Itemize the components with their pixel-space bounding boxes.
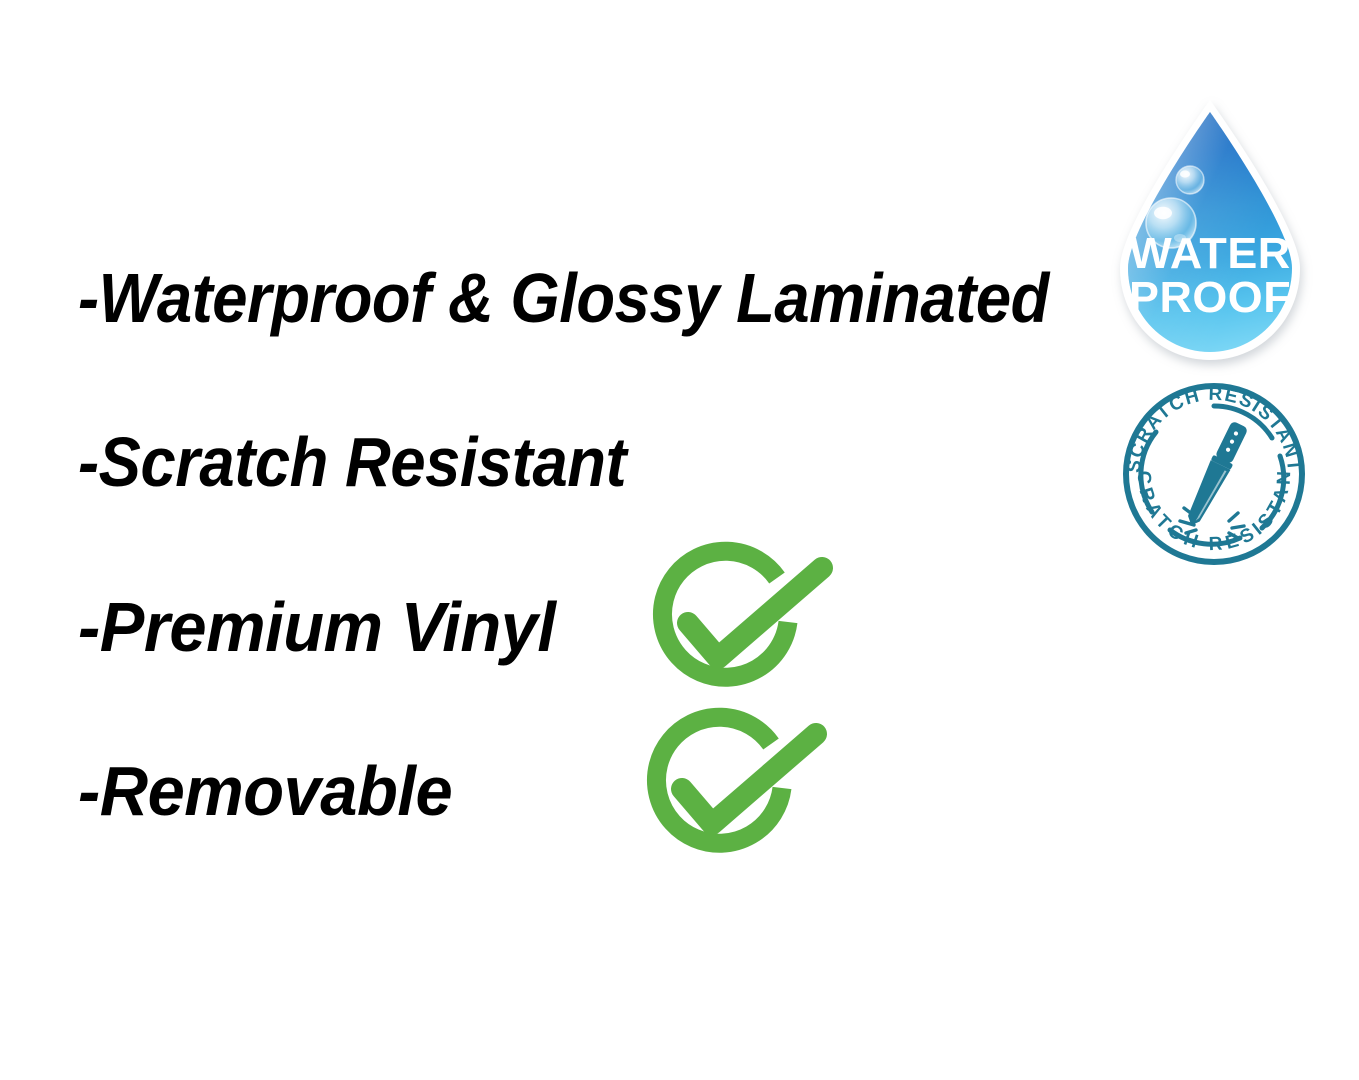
scratch-resistant-badge: SCRATCH RESISTANT SCRATCH RESISTANT xyxy=(1112,378,1316,570)
check-mark-stroke xyxy=(688,568,822,658)
check-mark-stroke xyxy=(682,734,816,824)
feature-text: -Premium Vinyl xyxy=(78,588,556,666)
waterproof-drop-icon: WATER PROOF xyxy=(1104,96,1316,376)
feature-item-waterproof-glossy-laminated: -Waterproof & Glossy Laminated xyxy=(78,263,1049,333)
feature-item-removable: -Removable xyxy=(78,756,452,826)
feature-list: -Waterproof & Glossy Laminated -Scratch … xyxy=(0,0,1120,1080)
waterproof-badge: WATER PROOF xyxy=(1104,96,1316,376)
feature-text: -Waterproof & Glossy Laminated xyxy=(78,259,1049,337)
green-check-circle-icon xyxy=(630,716,836,886)
feature-text: -Removable xyxy=(78,752,452,830)
product-feature-graphic: -Waterproof & Glossy Laminated -Scratch … xyxy=(0,0,1359,1080)
waterproof-line1: WATER xyxy=(1129,229,1290,278)
feature-text: -Scratch Resistant xyxy=(78,423,626,501)
feature-item-premium-vinyl: -Premium Vinyl xyxy=(78,592,556,662)
check-badge-removable xyxy=(630,716,836,886)
check-badge-premium-vinyl xyxy=(636,552,842,718)
scratch-resistant-stamp-icon: SCRATCH RESISTANT SCRATCH RESISTANT xyxy=(1112,378,1316,570)
water-bubble-icon-small xyxy=(1176,166,1204,194)
green-check-circle-icon xyxy=(636,552,842,718)
waterproof-line2: PROOF xyxy=(1129,273,1291,322)
feature-item-scratch-resistant: -Scratch Resistant xyxy=(78,427,626,497)
